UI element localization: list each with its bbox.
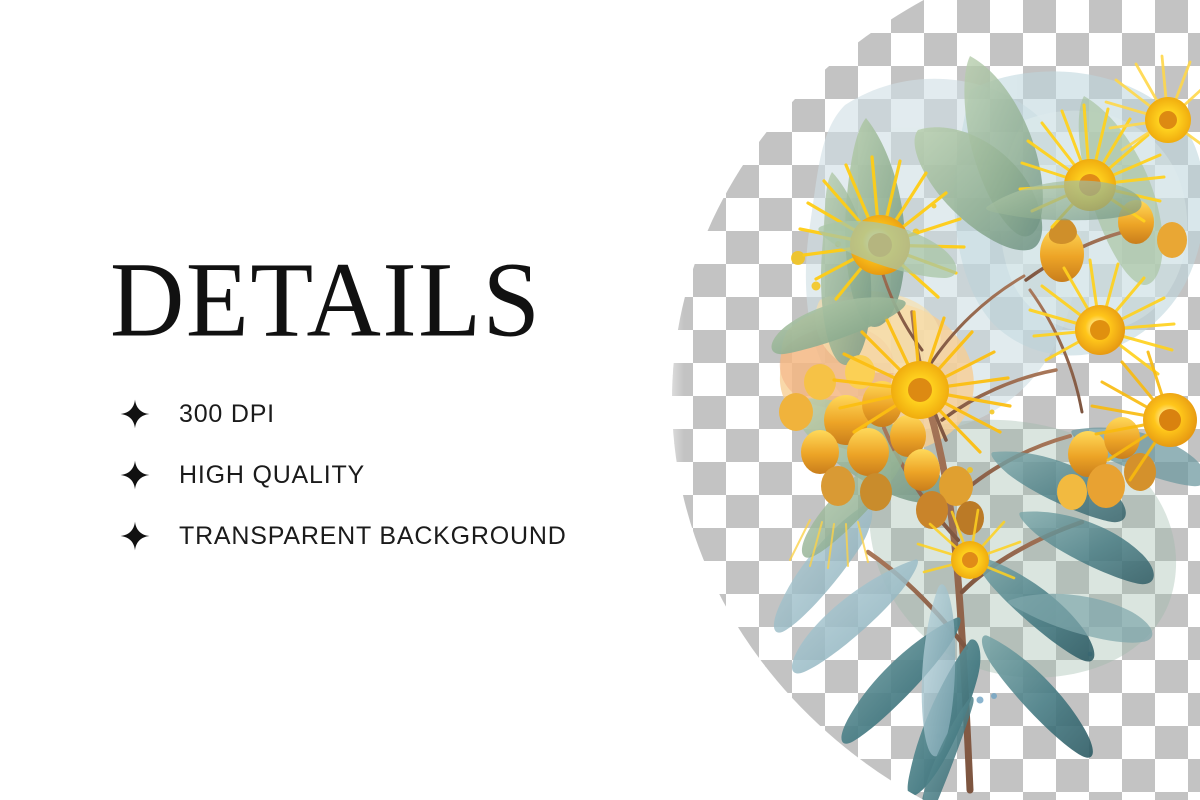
sparkle-icon: [120, 521, 150, 551]
feature-label: 300 DPI: [179, 400, 275, 429]
text-panel: DETAILS 300 DPI HIGH QUALITY TRANSPARENT…: [0, 0, 660, 800]
sparkle-icon: [120, 399, 150, 429]
feature-label: HIGH QUALITY: [179, 461, 365, 490]
feature-label: TRANSPARENT BACKGROUND: [179, 522, 567, 551]
feature-list: 300 DPI HIGH QUALITY TRANSPARENT BACKGRO…: [120, 392, 567, 575]
floral-bouquet-illustration: [670, 0, 1200, 800]
list-item: 300 DPI: [120, 392, 567, 436]
list-item: HIGH QUALITY: [120, 453, 567, 497]
page-title: DETAILS: [110, 247, 541, 354]
list-item: TRANSPARENT BACKGROUND: [120, 514, 567, 558]
design-canvas: DETAILS 300 DPI HIGH QUALITY TRANSPARENT…: [0, 0, 1200, 800]
sparkle-icon: [120, 460, 150, 490]
